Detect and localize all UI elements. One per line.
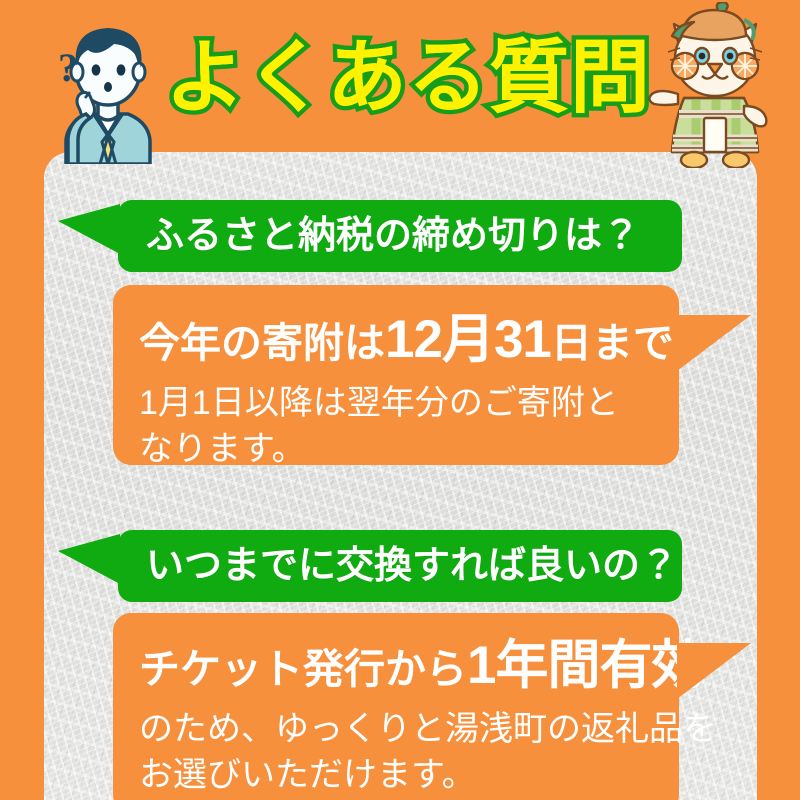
answer-box-2: チケット発行から1年間有効 のため、ゆっくりと湯浅町の返礼品を お選びいただけま…	[113, 613, 679, 800]
faq-graphic: ?	[0, 0, 800, 800]
header: ?	[0, 0, 800, 160]
question-text-1: ふるさと納税の締め切りは？	[118, 217, 640, 255]
answer-line-1-2: 1月1日以降は翌年分のご寄附と	[113, 366, 679, 420]
mascot-cat-icon	[644, 2, 796, 168]
thinking-businessman-icon: ?	[28, 14, 188, 164]
answer-line-1-3: なります。	[113, 420, 679, 466]
answer-seg: 今年の寄附は	[139, 320, 385, 366]
page-title: よくある質問	[176, 26, 640, 130]
answer-line-1-1: 今年の寄附は12月31日まで!	[113, 285, 679, 366]
question-banner-1: ふるさと納税の締め切りは？	[118, 200, 682, 272]
question-mark-icon: ?	[58, 44, 78, 91]
answer-box-1: 今年の寄附は12月31日まで! 1月1日以降は翌年分のご寄附と なります。	[113, 285, 679, 465]
answer-seg: 日まで!	[551, 320, 688, 366]
question-banner-2: いつまでに交換すれば良いの？	[118, 530, 682, 602]
answer-seg-emphasis: 12月31	[385, 310, 551, 369]
answer-line-2-1: チケット発行から1年間有効	[113, 613, 679, 692]
answer-seg: チケット発行から	[139, 646, 467, 692]
question-text-2: いつまでに交換すれば良いの？	[118, 547, 678, 585]
answer-line-2-2: のため、ゆっくりと湯浅町の返礼品を	[113, 692, 679, 746]
answer-line-2-3: お選びいただけます。	[113, 746, 679, 792]
answer-seg-emphasis: 1年間有効	[467, 636, 703, 695]
